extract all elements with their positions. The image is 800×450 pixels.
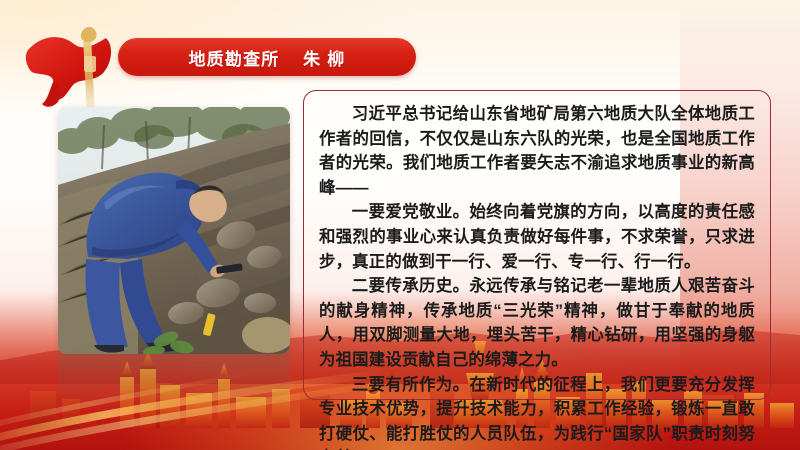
field-work-photo — [58, 107, 290, 354]
body-text-panel: 习近平总书记给山东省地矿局第六地质大队全体地质工作者的回信，不仅仅是山东六队的光… — [303, 90, 771, 400]
body-paragraph: 一要爱党敬业。始终向着党旗的方向，以高度的责任感和强烈的事业心来认真负责做好每件… — [319, 200, 755, 274]
title-pill: 地质勘查所 朱 柳 — [118, 38, 416, 76]
title-label: 地质勘查所 朱 柳 — [188, 45, 345, 70]
body-paragraph: 三要有所作为。在新时代的征程上，我们更要充分发挥专业技术优势，提升技术能力，积累… — [319, 373, 755, 450]
body-paragraph: 习近平总书记给山东省地矿局第六地质大队全体地质工作者的回信，不仅仅是山东六队的光… — [319, 102, 755, 200]
body-paragraph: 二要传承历史。永远传承与铭记老一辈地质人艰苦奋斗的献身精神，传承地质“三光荣”精… — [319, 274, 755, 372]
slide-canvas: 地质勘查所 朱 柳 — [0, 0, 800, 450]
photo-reflection — [58, 354, 290, 410]
field-work-photo-image — [58, 107, 290, 354]
body-text: 习近平总书记给山东省地矿局第六地质大队全体地质工作者的回信，不仅仅是山东六队的光… — [319, 102, 755, 450]
